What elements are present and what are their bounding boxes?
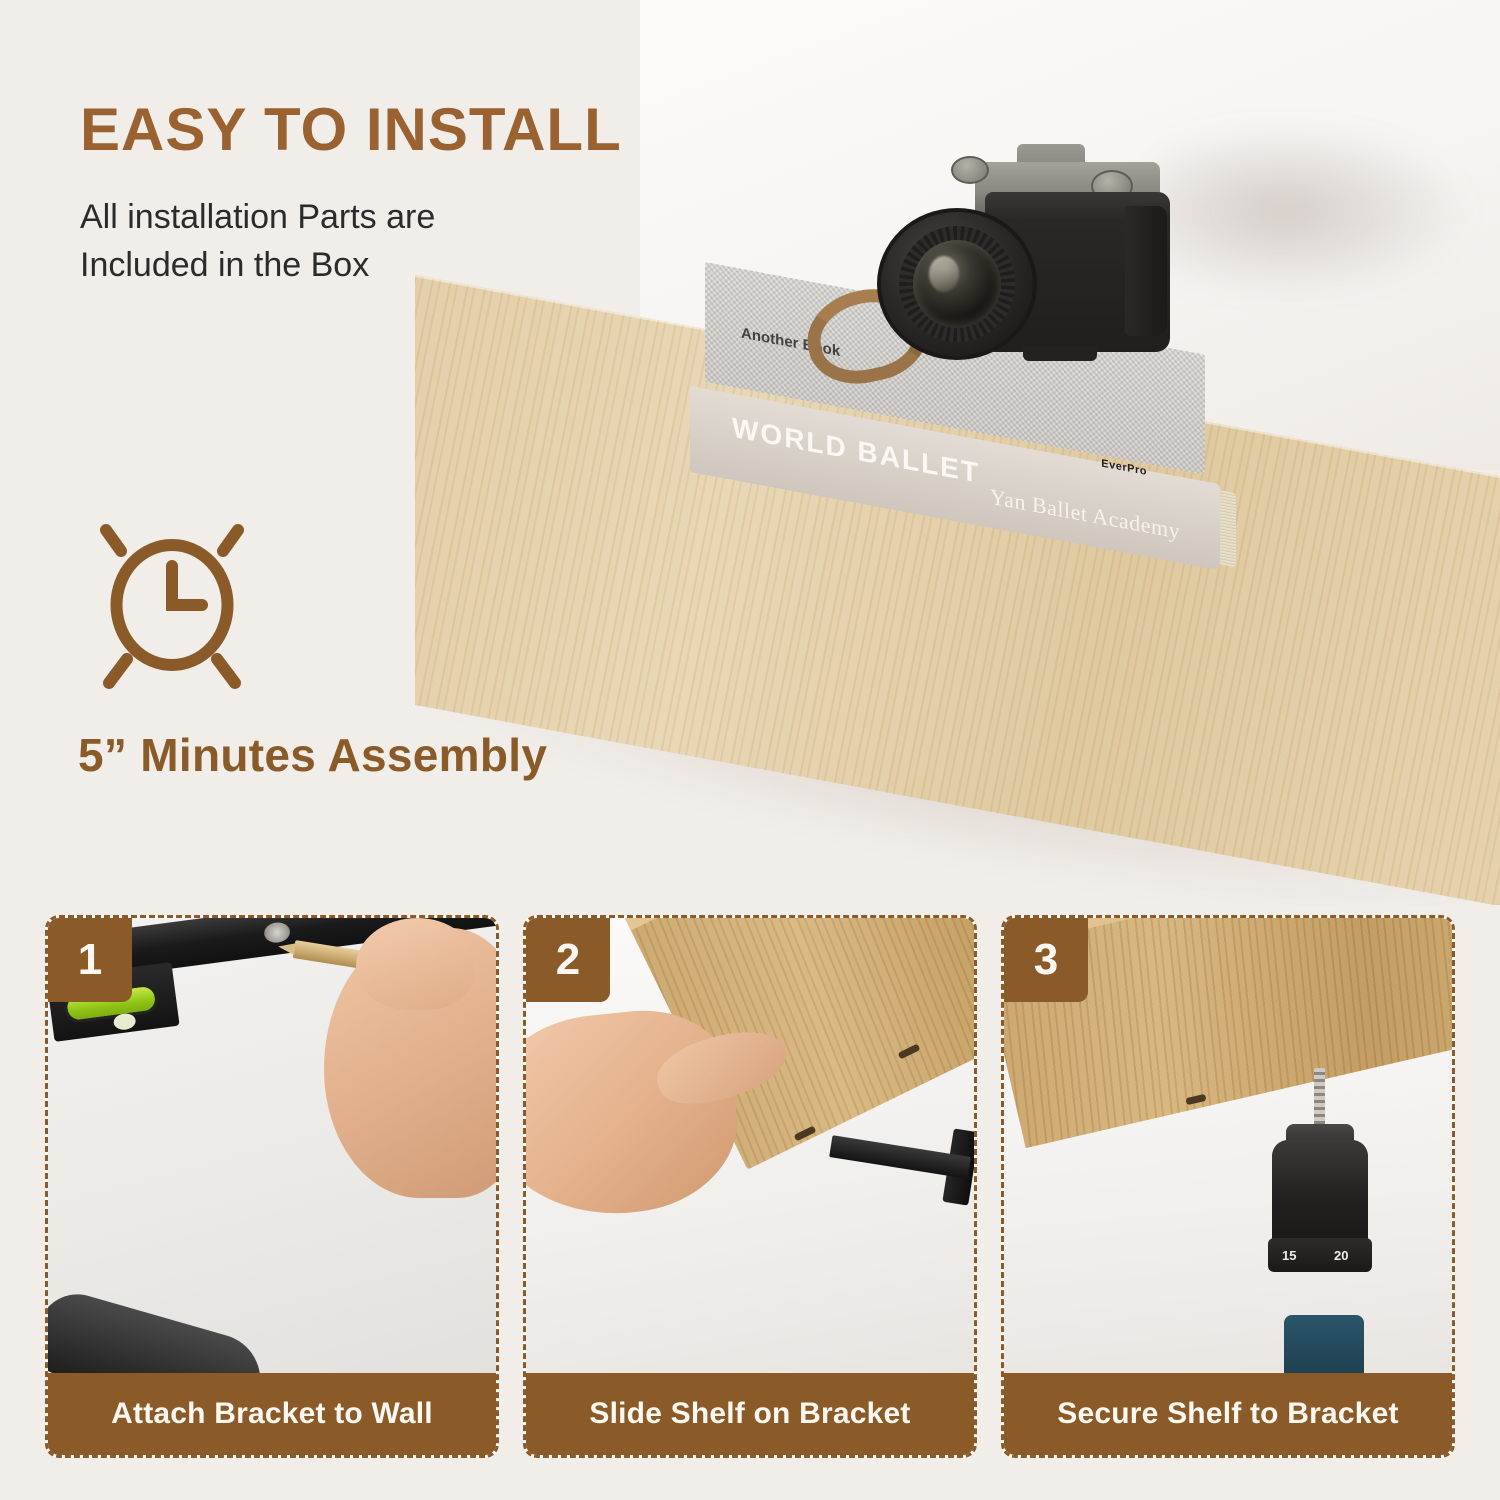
drill-torque-mark-20: 20 bbox=[1334, 1248, 1348, 1263]
camera-lens-glass bbox=[913, 240, 1001, 328]
camera-dial-left bbox=[951, 156, 989, 184]
step-card-3[interactable]: 3 15 20 Secure Shelf to Bracket bbox=[1001, 915, 1455, 1458]
step-number-badge: 2 bbox=[526, 918, 610, 1002]
wall-shadow bbox=[1150, 120, 1480, 300]
step-2-caption: Slide Shelf on Bracket bbox=[526, 1373, 974, 1455]
camera-lens-highlight bbox=[929, 256, 959, 292]
assembly-time-text: 5” Minutes Assembly bbox=[78, 728, 547, 782]
headline-block: EASY TO INSTALL All installation Parts a… bbox=[80, 98, 740, 290]
camera-icon bbox=[855, 140, 1175, 385]
step-3-caption: Secure Shelf to Bracket bbox=[1004, 1373, 1452, 1455]
page-title: EASY TO INSTALL bbox=[80, 98, 740, 161]
finger bbox=[356, 918, 474, 1010]
step-card-2[interactable]: 2 Slide Shelf on Bracket bbox=[523, 915, 977, 1458]
drill-torque-mark-15: 15 bbox=[1282, 1248, 1296, 1263]
step-number-badge: 3 bbox=[1004, 918, 1088, 1002]
install-steps-section: 1 Attach Bracket to Wall 2 bbox=[0, 905, 1500, 1500]
subtitle: All installation Parts are Included in t… bbox=[80, 193, 740, 290]
step-card-1[interactable]: 1 Attach Bracket to Wall bbox=[45, 915, 499, 1458]
step-1-caption: Attach Bracket to Wall bbox=[48, 1373, 496, 1455]
step-number-badge: 1 bbox=[48, 918, 132, 1002]
subtitle-line-2: Included in the Box bbox=[80, 241, 740, 289]
level-bubble bbox=[113, 1012, 137, 1031]
bracket-screw-hole bbox=[263, 921, 291, 944]
subtitle-line-1: All installation Parts are bbox=[80, 193, 740, 241]
alarm-clock-icon bbox=[82, 512, 262, 692]
camera-base-plate bbox=[1023, 345, 1097, 361]
camera-grip bbox=[1125, 206, 1167, 336]
hero-section: WORLD BALLET Yan Ballet Academy Another … bbox=[0, 0, 1500, 905]
drill-handle bbox=[1284, 1315, 1364, 1373]
